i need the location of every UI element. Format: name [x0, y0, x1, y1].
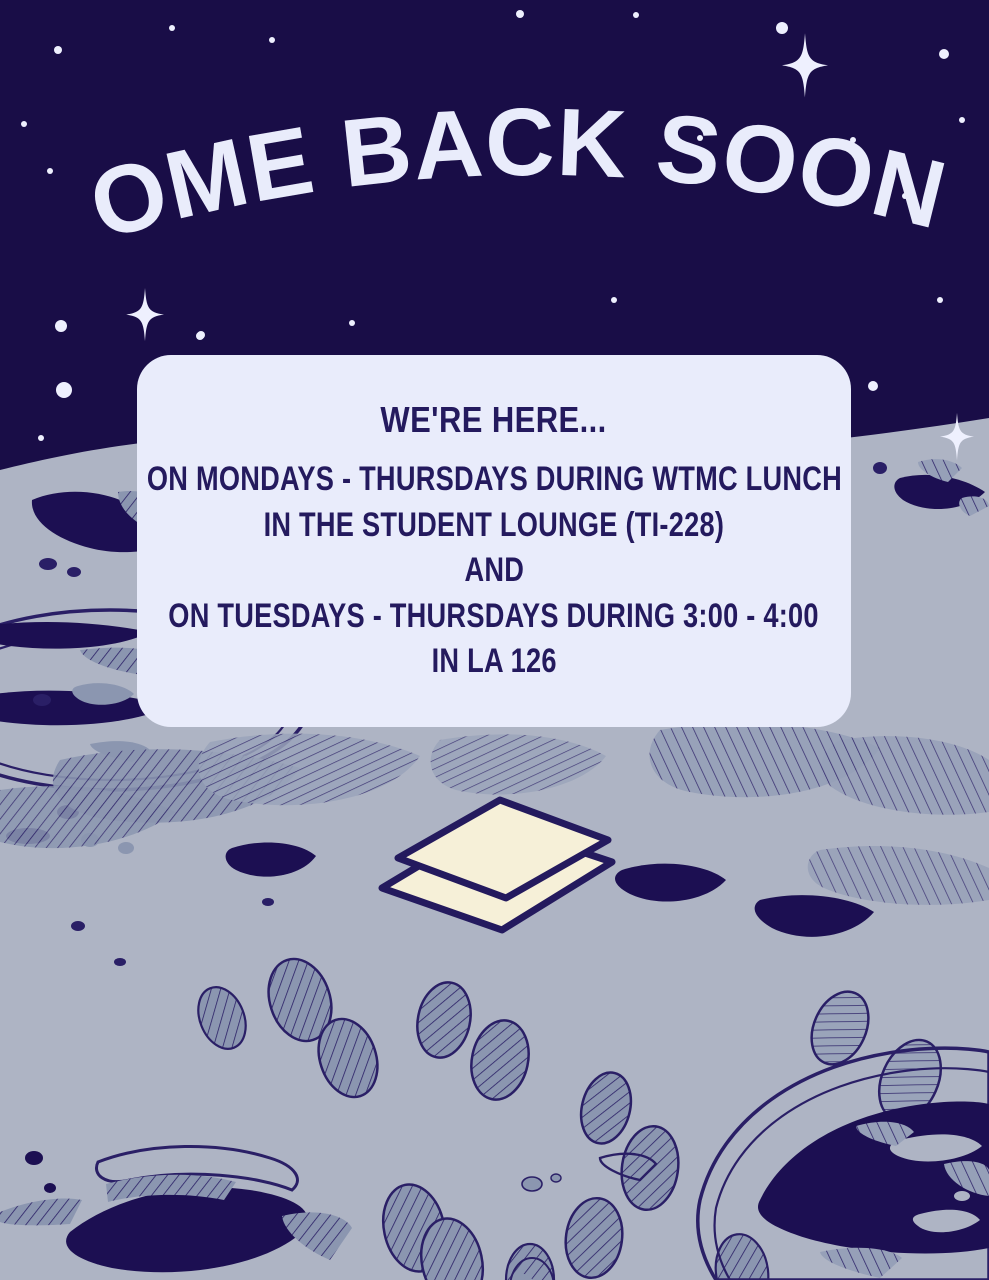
card-line-2: IN THE STUDENT LOUNGE (TI-228) [264, 503, 725, 549]
star-dot [269, 37, 275, 43]
star-sparkle [940, 412, 974, 461]
star-dot [169, 25, 175, 31]
card-heading: WE'RE HERE... [381, 399, 607, 441]
star-dot [516, 10, 524, 18]
star-dot [47, 168, 53, 174]
star-sparkle [782, 32, 828, 99]
star-dot [54, 46, 62, 54]
star-dot [937, 297, 943, 303]
card-line-3: AND [464, 548, 524, 594]
star-sparkle [126, 287, 164, 342]
card-line-1: ON MONDAYS - THURSDAYS DURING WTMC LUNCH [146, 457, 841, 503]
card-line-5: IN LA 126 [431, 639, 556, 685]
star-dot [697, 135, 703, 141]
star-dot [611, 297, 617, 303]
star-dot [55, 320, 67, 332]
star-dot [97, 205, 103, 211]
star-dot [939, 49, 949, 59]
star-dot [56, 382, 72, 398]
star-dot [38, 435, 44, 441]
star-dot [902, 193, 908, 199]
star-dot [21, 121, 27, 127]
star-dot [633, 12, 639, 18]
poster-root: COME BACK SOON! WE'RE HERE... ON MONDAYS… [0, 0, 989, 1280]
star-dot [850, 137, 856, 143]
star-dot [196, 332, 204, 340]
star-dot [349, 320, 355, 326]
card-line-4: ON TUESDAYS - THURSDAYS DURING 3:00 - 4:… [169, 594, 819, 640]
info-card: WE'RE HERE... ON MONDAYS - THURSDAYS DUR… [137, 355, 851, 727]
star-dot [959, 117, 965, 123]
star-dot [868, 381, 878, 391]
